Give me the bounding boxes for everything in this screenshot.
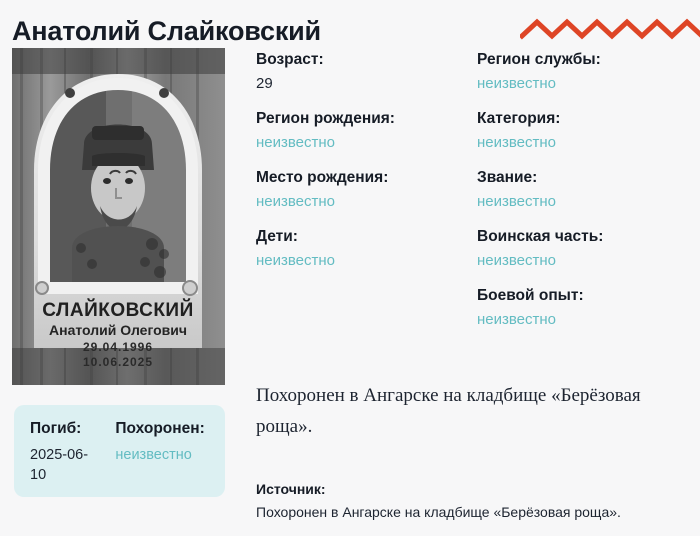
zigzag-line-icon xyxy=(520,14,700,40)
field-label: Боевой опыт: xyxy=(477,286,692,307)
field-category: Категория: неизвестно xyxy=(477,109,692,153)
info-column-right: Регион службы: неизвестно Категория: неи… xyxy=(477,50,692,330)
field-label: Место рождения: xyxy=(256,168,461,189)
status-value: 2025-06-10 xyxy=(30,446,97,485)
svg-text:Анатолий Олегович: Анатолий Олегович xyxy=(49,322,187,338)
field-birth-region: Регион рождения: неизвестно xyxy=(256,109,461,153)
field-value: неизвестно xyxy=(256,191,461,212)
field-label: Регион рождения: xyxy=(256,109,461,130)
page-title: Анатолий Слайковский xyxy=(12,16,321,47)
field-label: Категория: xyxy=(477,109,692,130)
status-item-killed: Погиб: 2025-06-10 xyxy=(30,419,97,497)
status-label: Погиб: xyxy=(30,419,97,439)
field-value: неизвестно xyxy=(256,250,461,271)
field-label: Дети: xyxy=(256,227,461,248)
field-value: 29 xyxy=(256,73,461,94)
memorial-photo: СЛАЙКОВСКИЙ Анатолий Олегович 29.04.1996… xyxy=(12,48,225,385)
field-service-region: Регион службы: неизвестно xyxy=(477,50,692,94)
status-item-buried: Похоронен: неизвестно xyxy=(115,419,209,497)
svg-text:СЛАЙКОВСКИЙ: СЛАЙКОВСКИЙ xyxy=(42,299,193,321)
field-combat-experience: Боевой опыт: неизвестно xyxy=(477,286,692,330)
field-value: неизвестно xyxy=(477,309,692,330)
svg-text:29.04.1996: 29.04.1996 xyxy=(83,340,153,354)
field-age: Возраст: 29 xyxy=(256,50,461,94)
field-rank: Звание: неизвестно xyxy=(477,168,692,212)
status-value: неизвестно xyxy=(115,446,209,466)
status-label: Похоронен: xyxy=(115,419,209,439)
field-label: Воинская часть: xyxy=(477,227,692,248)
field-value: неизвестно xyxy=(477,191,692,212)
info-column-left: Возраст: 29 Регион рождения: неизвестно … xyxy=(256,50,461,271)
field-value: неизвестно xyxy=(477,250,692,271)
svg-text:10.06.2025: 10.06.2025 xyxy=(83,355,153,369)
field-value: неизвестно xyxy=(477,73,692,94)
field-military-unit: Воинская часть: неизвестно xyxy=(477,227,692,271)
field-value: неизвестно xyxy=(477,132,692,153)
source-block: Источник: Похоронен в Ангарске на кладби… xyxy=(256,480,696,522)
field-label: Регион службы: xyxy=(477,50,692,71)
field-label: Звание: xyxy=(477,168,692,189)
source-text: Похоронен в Ангарске на кладбище «Берёзо… xyxy=(256,502,696,522)
field-children: Дети: неизвестно xyxy=(256,227,461,271)
field-value: неизвестно xyxy=(256,132,461,153)
source-label: Источник: xyxy=(256,480,696,500)
field-birth-place: Место рождения: неизвестно xyxy=(256,168,461,212)
field-label: Возраст: xyxy=(256,50,461,71)
narrative-text: Похоронен в Ангарске на кладбище «Берёзо… xyxy=(256,380,692,443)
profile-page: Анатолий Слайковский xyxy=(0,0,700,536)
status-card: Погиб: 2025-06-10 Похоронен: неизвестно xyxy=(14,405,225,497)
